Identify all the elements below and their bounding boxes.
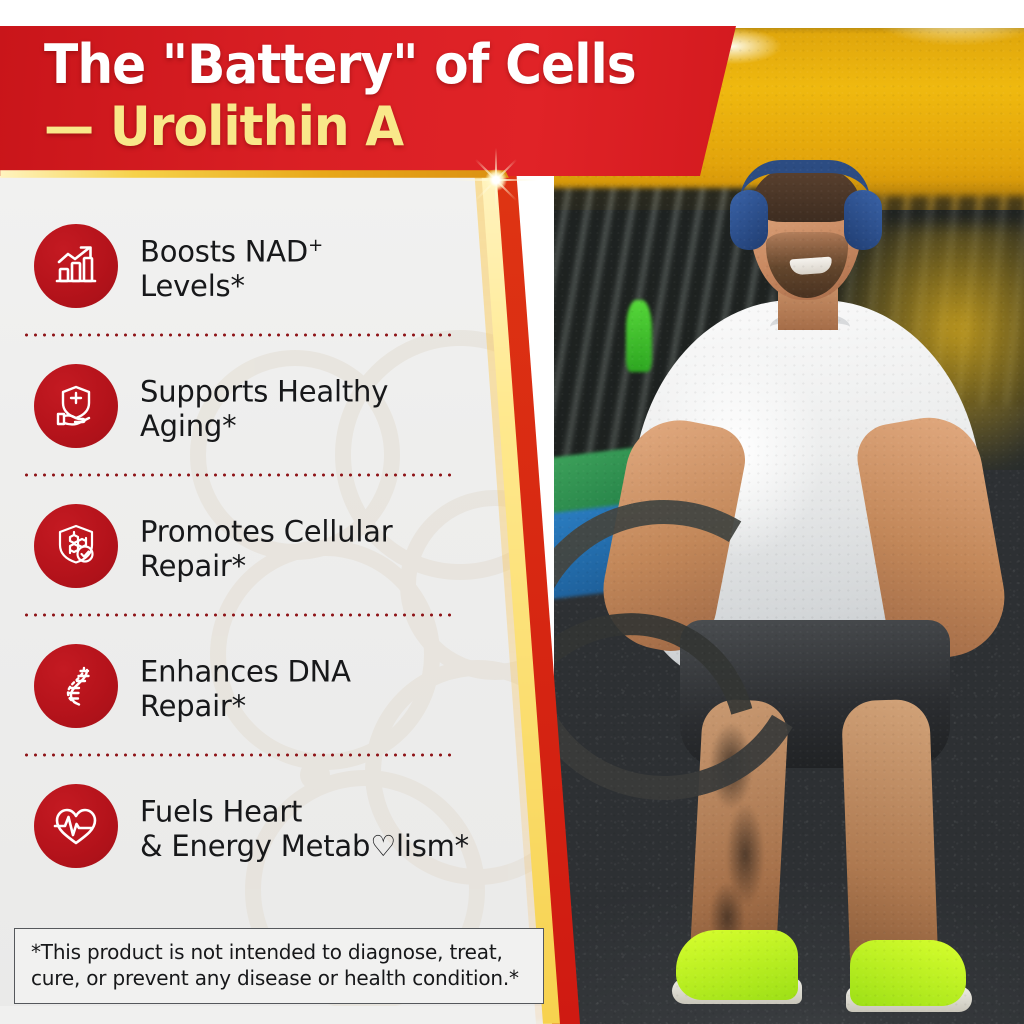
benefit-line2: & Energy Metab♡lism*	[140, 829, 469, 863]
headphone-earcup-left	[730, 190, 768, 250]
benefit-list: Boosts NAD+ Levels* Supports Healthy Agi…	[0, 196, 520, 896]
benefit-line1: Supports Healthy	[140, 374, 388, 408]
shoe-right	[850, 940, 966, 1006]
list-item: Promotes Cellular Repair*	[0, 476, 520, 616]
list-item: Enhances DNA Repair*	[0, 616, 520, 756]
banner-gold-underline	[0, 170, 540, 178]
list-item-text: Enhances DNA Repair*	[140, 648, 351, 725]
list-item: Boosts NAD+ Levels*	[0, 196, 520, 336]
disclaimer-line2: cure, or prevent any disease or health c…	[31, 965, 529, 991]
benefit-line1: Boosts NAD	[140, 234, 308, 268]
heart-pulse-icon	[34, 784, 118, 868]
page-title-line2: — Urolithin A	[44, 96, 658, 158]
title-block: The "Battery" of Cells — Urolithin A	[44, 34, 704, 158]
list-item-text: Boosts NAD+ Levels*	[140, 228, 323, 305]
panel-bottom-fill	[0, 1006, 560, 1024]
benefit-line2: Aging*	[140, 409, 236, 443]
list-item-text: Promotes Cellular Repair*	[140, 508, 392, 585]
benefit-line1: Promotes Cellular	[140, 514, 392, 548]
headphone-earcup-right	[844, 190, 882, 250]
top-white-strip	[0, 0, 1024, 28]
benefit-line2: Repair*	[140, 549, 246, 583]
benefit-superscript: +	[308, 235, 323, 256]
benefit-line2: Repair*	[140, 689, 246, 723]
shoe-left	[676, 930, 798, 1000]
shield-molecule-check-icon	[34, 504, 118, 588]
list-item: Fuels Heart & Energy Metab♡lism*	[0, 756, 520, 896]
dna-helix-icon	[34, 644, 118, 728]
bar-chart-growth-icon	[34, 224, 118, 308]
disclaimer-line1: *This product is not intended to diagnos…	[31, 939, 529, 965]
list-item-text: Fuels Heart & Energy Metab♡lism*	[140, 788, 469, 865]
list-item: Supports Healthy Aging*	[0, 336, 520, 476]
disclaimer-box: *This product is not intended to diagnos…	[14, 928, 544, 1004]
page-title-line1: The "Battery" of Cells	[44, 34, 658, 96]
list-item-text: Supports Healthy Aging*	[140, 368, 388, 445]
infographic-canvas: The "Battery" of Cells — Urolithin A	[0, 0, 1024, 1024]
benefit-line1: Enhances DNA	[140, 654, 351, 688]
benefit-line1: Fuels Heart	[140, 794, 302, 828]
benefit-line2: Levels*	[140, 269, 245, 303]
shield-cross-hand-icon	[34, 364, 118, 448]
